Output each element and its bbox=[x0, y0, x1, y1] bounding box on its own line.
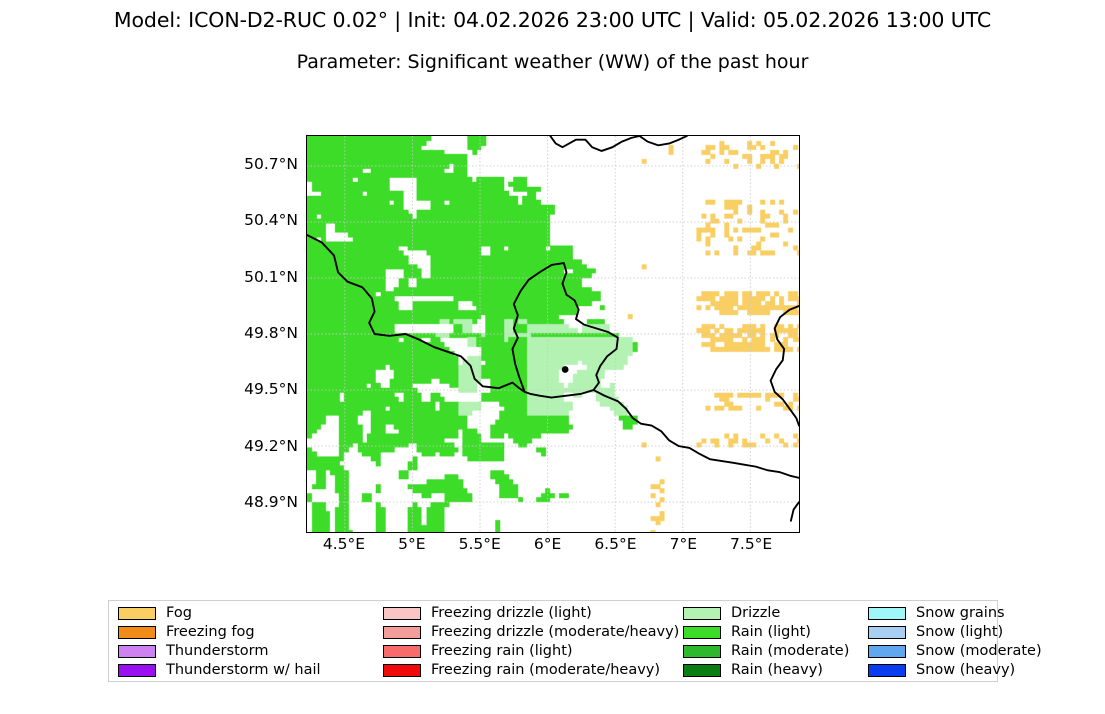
legend-item-label: Thunderstorm bbox=[166, 644, 268, 659]
legend-item: Rain (moderate) bbox=[683, 642, 868, 661]
legend-color-swatch bbox=[683, 607, 721, 620]
legend-item-label: Rain (heavy) bbox=[731, 663, 823, 678]
latitude-tick-label: 49.5°N bbox=[218, 382, 298, 398]
legend-item: Rain (heavy) bbox=[683, 661, 868, 680]
legend-item: Freezing rain (light) bbox=[383, 642, 683, 661]
legend-item-label: Fog bbox=[166, 606, 192, 621]
latitude-tick-label: 49.2°N bbox=[218, 439, 298, 455]
legend-item-label: Freezing fog bbox=[166, 625, 255, 640]
title-block: Model: ICON-D2-RUC 0.02° | Init: 04.02.2… bbox=[0, 0, 1105, 72]
legend-item-label: Snow (moderate) bbox=[916, 644, 1042, 659]
legend-item: Rain (light) bbox=[683, 623, 868, 642]
legend-item: Freezing drizzle (moderate/heavy) bbox=[383, 623, 683, 642]
legend-color-swatch bbox=[683, 645, 721, 658]
legend-color-swatch bbox=[868, 645, 906, 658]
legend-color-swatch bbox=[383, 607, 421, 620]
latitude-tick-label: 50.4°N bbox=[218, 213, 298, 229]
legend-item-label: Snow grains bbox=[916, 606, 1005, 621]
weather-map-plot bbox=[306, 135, 800, 533]
legend-item: Thunderstorm bbox=[118, 642, 383, 661]
legend-color-swatch bbox=[118, 645, 156, 658]
latitude-tick-label: 48.9°N bbox=[218, 495, 298, 511]
legend-item-label: Rain (light) bbox=[731, 625, 811, 640]
legend-item: Drizzle bbox=[683, 604, 868, 623]
legend-item-label: Snow (heavy) bbox=[916, 663, 1015, 678]
legend-item: Fog bbox=[118, 604, 383, 623]
latitude-tick-label: 50.7°N bbox=[218, 157, 298, 173]
longitude-axis: 4.5°E5°E5.5°E6°E6.5°E7°E7.5°E bbox=[306, 537, 800, 561]
city-dot-marker bbox=[562, 366, 569, 373]
legend-item: Freezing fog bbox=[118, 623, 383, 642]
legend-item-label: Thunderstorm w/ hail bbox=[166, 663, 321, 678]
country-borders-layer bbox=[307, 136, 799, 532]
page-title: Model: ICON-D2-RUC 0.02° | Init: 04.02.2… bbox=[0, 10, 1105, 31]
legend-color-swatch bbox=[868, 607, 906, 620]
legend-item-label: Rain (moderate) bbox=[731, 644, 849, 659]
legend-item: Snow (heavy) bbox=[868, 661, 1008, 680]
legend-item: Snow (moderate) bbox=[868, 642, 1008, 661]
latitude-tick-label: 50.1°N bbox=[218, 270, 298, 286]
legend-panel: FogFreezing fogThunderstormThunderstorm … bbox=[108, 600, 998, 682]
legend-item-label: Freezing rain (moderate/heavy) bbox=[431, 663, 660, 678]
legend-item-label: Freezing rain (light) bbox=[431, 644, 573, 659]
legend-color-swatch bbox=[118, 626, 156, 639]
legend-color-swatch bbox=[383, 645, 421, 658]
longitude-tick-label: 7.5°E bbox=[706, 537, 796, 553]
legend-item: Snow grains bbox=[868, 604, 1008, 623]
legend-item-label: Freezing drizzle (light) bbox=[431, 606, 592, 621]
page-subtitle: Parameter: Significant weather (WW) of t… bbox=[0, 53, 1105, 72]
legend-item-label: Drizzle bbox=[731, 606, 780, 621]
latitude-tick-label: 49.8°N bbox=[218, 326, 298, 342]
legend-color-swatch bbox=[118, 607, 156, 620]
legend-item: Thunderstorm w/ hail bbox=[118, 661, 383, 680]
legend-item-label: Snow (light) bbox=[916, 625, 1003, 640]
legend-item-label: Freezing drizzle (moderate/heavy) bbox=[431, 625, 679, 640]
legend-color-swatch bbox=[383, 664, 421, 677]
legend-item: Freezing rain (moderate/heavy) bbox=[383, 661, 683, 680]
legend-grid: FogFreezing fogThunderstormThunderstorm … bbox=[109, 601, 997, 681]
legend-color-swatch bbox=[118, 664, 156, 677]
legend-color-swatch bbox=[383, 626, 421, 639]
legend-color-swatch bbox=[683, 664, 721, 677]
latitude-axis: 50.7°N50.4°N50.1°N49.8°N49.5°N49.2°N48.9… bbox=[214, 135, 298, 533]
legend-color-swatch bbox=[868, 626, 906, 639]
legend-color-swatch bbox=[683, 626, 721, 639]
legend-color-swatch bbox=[868, 664, 906, 677]
legend-item: Freezing drizzle (light) bbox=[383, 604, 683, 623]
legend-item: Snow (light) bbox=[868, 623, 1008, 642]
